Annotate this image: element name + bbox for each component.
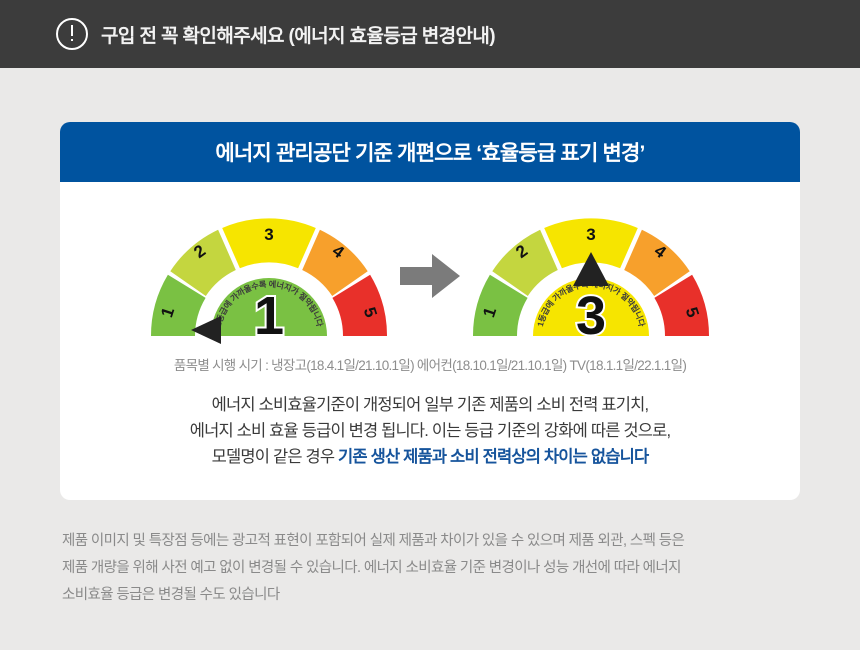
card-header-title: 에너지 관리공단 기준 개편으로 ‘효율등급 표기 변경’ (215, 137, 644, 167)
exclamation-circle-icon (56, 18, 88, 50)
notice-line-2: 에너지 소비 효율 등급이 변경 됩니다. 이는 등급 기준의 강화에 따른 것… (60, 418, 800, 444)
gauge-before: 1 2 3 4 5 1등급에 가까울수록 에너지가 절약됩니다 (145, 212, 393, 340)
notice-line-1: 에너지 소비효율기준이 개정되어 일부 기존 제품의 소비 전력 표기치, (60, 392, 800, 418)
page-title: 구입 전 꼭 확인해주세요 (에너지 효율등급 변경안내) (101, 21, 495, 48)
gauge-after-grade: 3 (576, 286, 606, 346)
gauge-after: 1 2 3 4 5 1등급에 가까울수록 에너지가 절약됩니다 3 (467, 212, 715, 340)
notice-paragraph: 에너지 소비효율기준이 개정되어 일부 기존 제품의 소비 전력 표기치, 에너… (60, 392, 800, 470)
page-header-bar: 구입 전 꼭 확인해주세요 (에너지 효율등급 변경안내) (0, 0, 860, 68)
notice-line-3-prefix: 모델명이 같은 경우 (212, 448, 338, 466)
disclaimer-line-3: 소비효율 등급은 변경될 수도 있습니다 (62, 582, 802, 609)
gauge-after-graphic: 1 2 3 4 5 1등급에 가까울수록 에너지가 절약됩니다 3 (467, 212, 715, 340)
notice-line-3: 모델명이 같은 경우 기존 생산 제품과 소비 전력상의 차이는 없습니다 (60, 444, 800, 470)
transition-arrow (393, 212, 467, 340)
disclaimer-note: 제품 이미지 및 특장점 등에는 광고적 표현이 포함되어 실제 제품과 차이가… (62, 528, 802, 609)
implementation-schedule-caption: 품목별 시행 시기 : 냉장고(18.4.1일/21.10.1일) 에어컨(18… (60, 354, 800, 374)
page-header-inner: 구입 전 꼭 확인해주세요 (에너지 효율등급 변경안내) (56, 18, 495, 50)
gauge-segment-label-3: 3 (586, 225, 595, 244)
gauge-before-graphic: 1 2 3 4 5 1등급에 가까울수록 에너지가 절약됩니다 (145, 212, 393, 340)
gauge-before-grade: 1 (254, 286, 284, 346)
gauge-segment-label-3: 3 (264, 225, 273, 244)
card-body: 1 2 3 4 5 1등급에 가까울수록 에너지가 절약됩니다 (60, 182, 800, 500)
right-arrow-icon (400, 254, 460, 298)
notice-line-3-highlight: 기존 생산 제품과 소비 전력상의 차이는 없습니다 (338, 448, 648, 466)
energy-grade-notice-card: 에너지 관리공단 기준 개편으로 ‘효율등급 표기 변경’ (60, 122, 800, 500)
disclaimer-line-2: 제품 개량을 위해 사전 예고 없이 변경될 수 있습니다. 에너지 소비효율 … (62, 555, 802, 582)
disclaimer-line-1: 제품 이미지 및 특장점 등에는 광고적 표현이 포함되어 실제 제품과 차이가… (62, 528, 802, 555)
card-header: 에너지 관리공단 기준 개편으로 ‘효율등급 표기 변경’ (60, 122, 800, 182)
gauge-comparison: 1 2 3 4 5 1등급에 가까울수록 에너지가 절약됩니다 (60, 182, 800, 340)
